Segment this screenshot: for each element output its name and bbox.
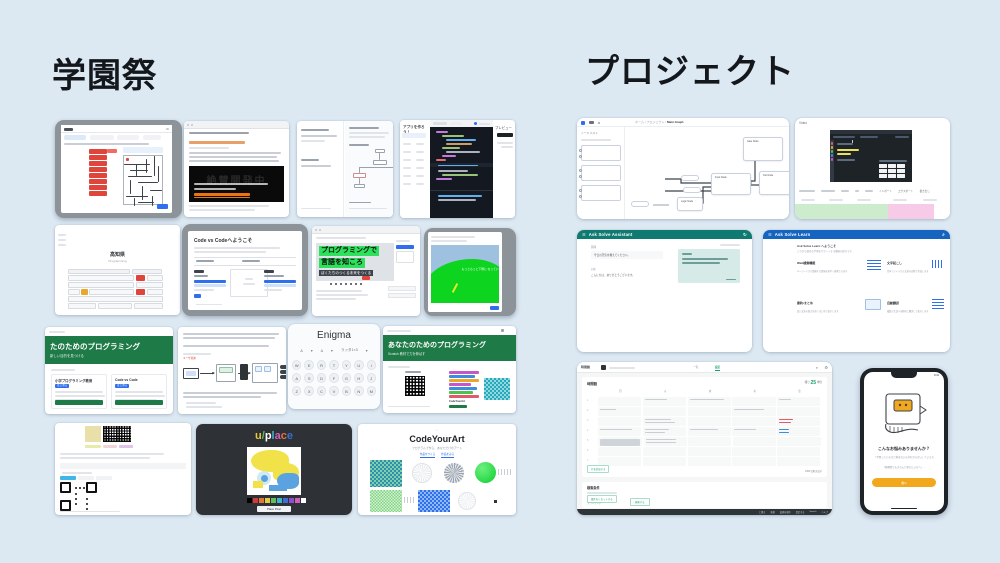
table-row[interactable]: 5: [587, 437, 822, 447]
toolbar-export[interactable]: エクスポート: [898, 189, 914, 193]
statusbar-item[interactable]: 設定する: [796, 510, 805, 514]
feature-desc: 複数の言語へ自動的に翻訳して表示します: [887, 311, 935, 314]
thumb-u-place-canvas[interactable]: u/place Place Pixel: [196, 424, 352, 515]
statusbar-item[interactable]: Search: [810, 511, 817, 513]
table-title: 時間割: [587, 381, 597, 386]
row-header: 1: [587, 397, 598, 402]
refresh-icon[interactable]: ↻: [743, 232, 747, 238]
row-header: 7: [587, 457, 598, 462]
maze-canvas: [123, 155, 163, 205]
thumb-phone-onboarding[interactable]: 9:41 こんなお悩みありませんか？ 「学習しているけど進まないのがわからない」…: [860, 368, 948, 515]
status-time: 9:41: [934, 374, 939, 377]
blue-app-lead-sub: これから始める学習をサポートする機能の紹介です: [797, 249, 852, 253]
table-row[interactable]: 3: [587, 417, 822, 427]
classroom-banner: あなたのためのプログラミング Scratch 教材で力を伸ばす: [383, 335, 516, 361]
chevron-down-icon: ▾: [311, 349, 313, 353]
feature-title: Web検索機能: [797, 261, 863, 265]
code-your-art-button-browse[interactable]: 作品をみる: [441, 452, 454, 458]
blue-app-lead: Ask Solve Learn へようこそ: [797, 244, 836, 248]
tab-settings[interactable]: 設定: [715, 365, 720, 371]
chevron-down-icon: ▾: [331, 349, 333, 353]
statusbar-item[interactable]: ヘルプ: [821, 510, 828, 514]
breadcrumb-project[interactable]: プロジェクト: [646, 120, 664, 124]
keyboard-subtitle: Programming: [55, 259, 180, 263]
row-header: 4: [587, 427, 598, 432]
feature-icon-summary: [865, 299, 881, 310]
footer-field-label: フリーワード: [587, 501, 601, 505]
column-header: 水: [688, 389, 733, 394]
classroom-banner-title: たのためのプログラミング: [50, 341, 140, 352]
row-header: 5: [587, 437, 598, 442]
feature-title: 自動翻訳: [887, 301, 935, 305]
terrain-annotation: もっともっと下側に なっている場所: [462, 267, 499, 271]
table-row[interactable]: 1: [587, 397, 822, 407]
classroom-card[interactable]: 小学プログラミング教育 はじめる: [51, 374, 107, 409]
counter-value: 25: [811, 380, 817, 386]
artwork-wave-right: [498, 469, 512, 475]
pattern-artwork: [484, 378, 510, 400]
feature-desc: 音声ファイルから文章を自動で作成します: [887, 271, 935, 274]
code-your-art-title: CodeYourArt: [358, 434, 516, 444]
code-your-art-subtitle: プログラムで作る、あなただけのアート: [358, 446, 516, 450]
banner-line-1: プログラミングで: [319, 246, 379, 256]
classroom-banner-sub: 新しい目的を見つける: [50, 353, 84, 358]
node-title: Gate Node: [747, 140, 759, 143]
statusbar-item[interactable]: 新規: [770, 510, 774, 514]
onboarding-bullet-1: 「学習しているけど進まないのがわからない」という方: [870, 456, 938, 460]
search-icon[interactable]: ⌕: [816, 365, 818, 370]
row-header: 2: [587, 407, 598, 412]
feature-icon-transcribe: [932, 260, 944, 268]
artwork-pattern-green: [370, 490, 402, 512]
counter-label: 残り: [805, 381, 810, 384]
classroom-card-tag: はじめる: [115, 384, 129, 388]
enigma-selector-2[interactable]: A: [321, 349, 323, 353]
thumb-enigma-keyboard[interactable]: Enigma A ▾ A ▾ ラッタ1×3 ▾ WERT YUI ASDF GH…: [288, 324, 380, 409]
node-title: Logic Node: [681, 200, 693, 203]
question-value: 今日の天気を教えてください。: [594, 253, 630, 257]
page-title-right: プロジェクト: [585, 44, 795, 93]
banner-line-2: 言語を知ころ: [319, 258, 365, 268]
thumb-article-dark-video[interactable]: 絶賛開発中: [184, 121, 289, 217]
search-button[interactable]: 検索する: [630, 498, 650, 506]
field-label: 質問: [591, 245, 663, 249]
keyboard-title: 高知県: [55, 251, 180, 258]
footer-title: 検索条件: [587, 485, 600, 490]
classroom-banner-sub: Scratch 教材で力を伸ばす: [388, 351, 425, 356]
counter-unit: 単位: [817, 381, 822, 384]
feature-title: 要約・まとめ: [797, 301, 863, 305]
column-header: 木: [732, 389, 777, 394]
onboarding-illustration: [864, 386, 944, 442]
thumb-video-editor[interactable]: Video: [795, 118, 950, 219]
row-header: 6: [587, 447, 598, 452]
statusbar-item[interactable]: 変更を保存: [780, 510, 791, 514]
node-title: Out Node: [763, 174, 773, 177]
video-editor-label: Video: [799, 121, 807, 125]
feature-card[interactable]: 文字起こし 音声ファイルから文章を自動で作成します: [887, 261, 935, 274]
thumb-node-graph-editor[interactable]: ホーム / プロジェクト / Main Graph ノードリスト: [577, 118, 789, 219]
terrain-render: もっともっと下側に なっている場所: [431, 245, 499, 303]
feature-title: 文字起こし: [887, 261, 935, 265]
place-pixel-button[interactable]: Place Pixel: [257, 506, 291, 512]
classroom-banner: たのためのプログラミング 新しい目的を見つける: [45, 336, 173, 364]
onboarding-bullet-2: 「短期間でもきちんと覚えたい方へ」…: [870, 466, 938, 470]
classroom-banner-title: あなたのためのプログラミング: [388, 340, 486, 350]
breadcrumb-home[interactable]: ホーム: [635, 120, 644, 124]
artwork-gear-grey: [444, 463, 464, 483]
qr-code-dense: [103, 426, 131, 442]
column-header: 月: [598, 389, 643, 394]
teal-app-title: Ask Solve Assistant: [589, 232, 633, 237]
gallery-page: 学園祭 プロジェクト: [0, 0, 1000, 563]
artwork-pattern-blue: [418, 490, 450, 512]
code-your-art-logo-icon: ▪: [437, 429, 438, 432]
classroom-card-tag: はじめる: [55, 384, 69, 388]
classroom-card[interactable]: Code vs Code はじめる: [111, 374, 167, 409]
enigma-selector-1[interactable]: A: [300, 349, 302, 353]
column-header: 火: [643, 389, 688, 394]
onboarding-headline: こんなお悩みありませんか？: [864, 446, 944, 452]
artwork-wave-left: [404, 497, 416, 503]
thumb-qrcode-page[interactable]: [55, 423, 191, 515]
thumb-notebook-flowchart[interactable]: [297, 121, 393, 217]
table-row[interactable]: 6: [587, 447, 822, 457]
onboarding-cta-button[interactable]: 次へ: [872, 478, 936, 487]
row-header: 3: [587, 417, 598, 422]
enigma-selector-3[interactable]: ラッタ1×3: [341, 348, 358, 353]
timeline-track[interactable]: [795, 204, 888, 219]
app-menu-icon[interactable]: ☰: [768, 233, 772, 237]
breadcrumb-current: Main Graph: [667, 120, 684, 124]
classroom-card-title: 小学プログラミング教育: [55, 378, 92, 383]
artwork-green-circle: [475, 462, 496, 483]
timeline[interactable]: [795, 197, 950, 219]
keyboard-diagram: [68, 269, 170, 309]
toolbar-import[interactable]: インポート: [879, 189, 892, 193]
code-vs-code-title: Code vs Codeへようこそ: [194, 237, 252, 244]
gear-icon[interactable]: ⚙: [824, 365, 828, 370]
thumb-timetable-app[interactable]: 時間割 一覧 設定 ⌕ ⚙ 時間割 残り 25 単位 月 火 水 木 金: [577, 362, 832, 515]
enigma-title: Enigma: [288, 330, 380, 341]
feature-desc: キーワードから関連する情報を素早く検索できます: [797, 271, 863, 274]
search-icon[interactable]: ⌕: [942, 232, 945, 237]
statusbar-item[interactable]: 上書き: [759, 510, 766, 514]
enigma-keyboard[interactable]: WERT YUI ASDF GHJ ZXCV BNM: [292, 360, 376, 396]
toolbar-render[interactable]: 書き出し: [919, 189, 929, 193]
u-place-title: u/place: [196, 430, 352, 442]
chevron-down-icon: ▾: [366, 349, 368, 353]
thumb-maze-blocks-tablet[interactable]: [55, 120, 182, 218]
thumb-programming-green-banner[interactable]: プログラミングで 言語を知ころ ぼくたちのつくる未来をつくる: [312, 226, 420, 316]
column-header: 金: [777, 389, 822, 394]
table-row[interactable]: 2: [587, 407, 822, 417]
video-preview[interactable]: [830, 130, 912, 182]
thumb-classroom-green-left[interactable]: たのためのプログラミング 新しい目的を見つける 小学プログラミング教育 はじめる…: [45, 327, 173, 414]
feature-card[interactable]: Web検索機能 キーワードから関連する情報を素早く検索できます: [797, 261, 863, 274]
add-row-button[interactable]: 行を追加する: [587, 465, 609, 473]
node-canvas[interactable]: Input Node Out Node Gate Node Logic Node: [625, 127, 789, 219]
export-csv-button[interactable]: CSVで書き出す: [805, 469, 822, 473]
feature-card[interactable]: 自動翻訳 複数の言語へ自動的に翻訳して表示します: [887, 301, 935, 314]
blue-app-title: Ask Solve Learn: [775, 232, 811, 237]
status-bar: 上書き 新規 変更を保存 設定する Search ヘルプ: [577, 509, 832, 515]
artwork-dot: [494, 500, 497, 503]
answer-label: 回答: [591, 267, 663, 271]
thumb-green-terrain-3d[interactable]: もっともっと下側に なっている場所: [424, 228, 516, 316]
video-thumbnail[interactable]: 絶賛開発中: [189, 166, 284, 202]
table-row[interactable]: 4: [587, 427, 822, 437]
result-panel: [678, 249, 740, 283]
pixel-canvas[interactable]: [247, 447, 301, 495]
thumb-system-architecture-doc[interactable]: ユーザ端末: [178, 327, 286, 414]
feature-icon-translate: [932, 299, 944, 309]
answer-value: こんにちは、ありがとうございます。: [591, 273, 663, 277]
timeline-track[interactable]: [888, 204, 934, 219]
feature-icon-search: [867, 260, 881, 270]
artwork-gear-outline: [458, 492, 476, 510]
thumb-keyboard-layout[interactable]: 高知県 Programming: [55, 225, 180, 315]
qr-code-small: [85, 426, 101, 442]
page-title-left: 学園祭: [52, 48, 157, 97]
classroom-card-title: Code vs Code: [115, 378, 138, 382]
tab-list[interactable]: 一覧: [693, 365, 698, 369]
preview-label: プレビュー: [495, 125, 512, 130]
artwork-gear-light: [412, 463, 432, 483]
node-title: Input Node: [715, 176, 727, 179]
thumb-teal-form-app[interactable]: ☰ Ask Solve Assistant ↻ 質問 今日の天気を教えてください…: [577, 230, 752, 352]
thumb-code-vs-code-tablet[interactable]: Code vs Codeへようこそ: [182, 224, 308, 316]
qr-code-large: [60, 482, 106, 511]
timetable-app-name: 時間割: [581, 365, 590, 369]
table-row[interactable]: 7: [587, 457, 822, 467]
code-your-art-button-create[interactable]: 作品をつくる: [420, 452, 436, 458]
artwork-pattern-teal: [370, 460, 402, 487]
thumb-classroom-green-right[interactable]: あなたのためのプログラミング Scratch 教材で力を伸ばす CodeYour…: [383, 326, 516, 413]
node-list-label: ノードリスト: [581, 131, 598, 135]
architecture-diagram: ユーザ端末: [183, 360, 281, 388]
feature-card[interactable]: 要約・まとめ 長い文章の要点を短くまとめて表示します: [797, 301, 863, 314]
color-palette[interactable]: [247, 498, 306, 503]
qr-code: [405, 376, 425, 396]
thumb-code-your-art[interactable]: ▪ CodeYourArt プログラムで作る、あなただけのアート 作品をつくる …: [358, 424, 516, 515]
thumb-blue-feature-app[interactable]: ☰ Ask Solve Learn ⌕ Ask Solve Learn へようこ…: [763, 230, 950, 352]
thumb-code-editor-dark[interactable]: アプリを作ろう！: [400, 120, 515, 218]
feature-desc: 長い文章の要点を短くまとめて表示します: [797, 311, 863, 314]
app-menu-icon[interactable]: ☰: [582, 233, 586, 237]
question-input[interactable]: 今日の天気を教えてください。: [591, 251, 663, 259]
